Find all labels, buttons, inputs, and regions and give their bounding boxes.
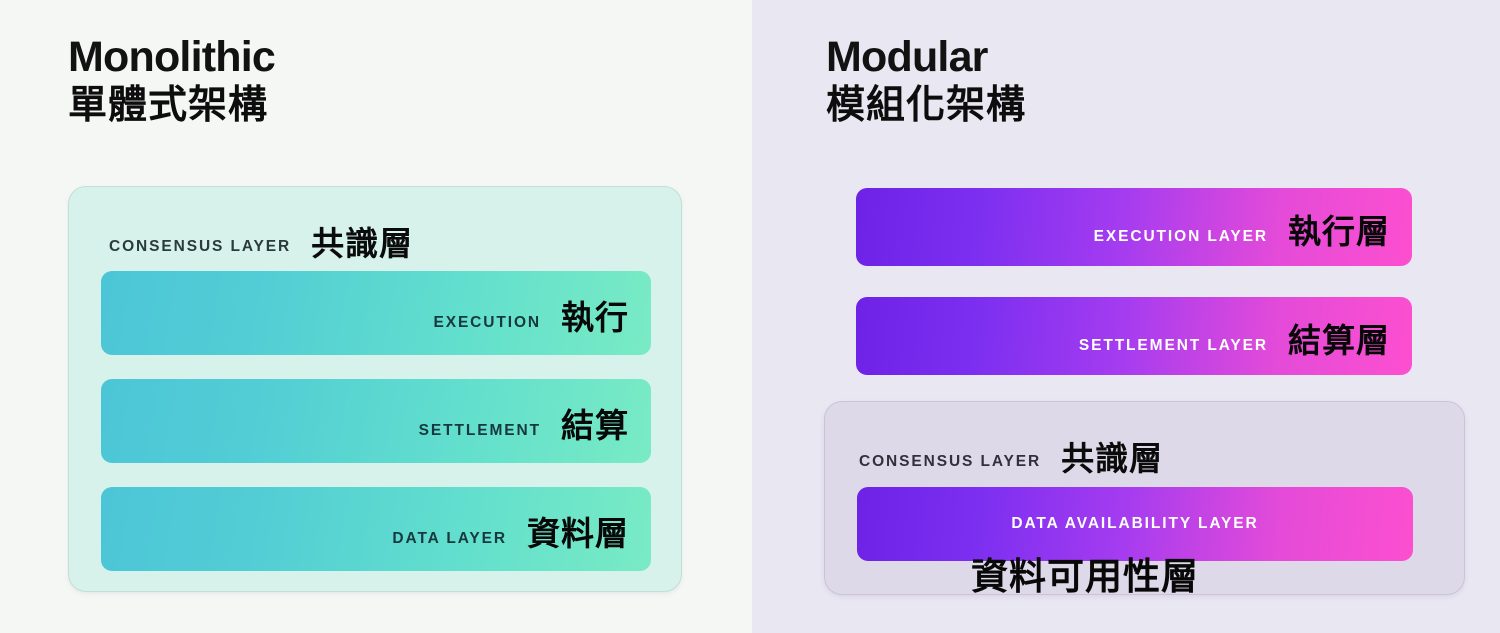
monolithic-bar-execution-labels: EXECUTION 執行 <box>433 289 629 337</box>
monolithic-bar-execution-label-en: EXECUTION <box>433 314 541 332</box>
monolithic-bar-settlement: SETTLEMENT 結算 <box>101 379 651 463</box>
modular-bar-settlement-labels: SETTLEMENT LAYER 結算層 <box>1079 312 1390 360</box>
modular-panel: Modular 模組化架構 EXECUTION LAYER 執行層 SETTLE… <box>752 0 1500 633</box>
monolithic-bar-execution: EXECUTION 執行 <box>101 271 651 355</box>
modular-bar-execution-labels: EXECUTION LAYER 執行層 <box>1094 203 1390 251</box>
monolithic-bar-data-label-zh: 資料層 <box>527 507 629 555</box>
modular-consensus-label-en: CONSENSUS LAYER <box>859 453 1041 471</box>
monolithic-bar-settlement-label-zh: 結算 <box>561 399 629 447</box>
modular-title-en: Modular <box>826 36 1026 79</box>
monolithic-bar-data-label-en: DATA LAYER <box>392 530 507 548</box>
modular-title-zh: 模組化架構 <box>826 86 1026 125</box>
monolithic-consensus-label-en: CONSENSUS LAYER <box>109 238 291 256</box>
monolithic-bar-data-labels: DATA LAYER 資料層 <box>392 505 629 553</box>
modular-consensus-caption: CONSENSUS LAYER 共識層 <box>859 428 1163 476</box>
modular-bar-settlement: SETTLEMENT LAYER 結算層 <box>856 297 1412 375</box>
comparison-diagram: Monolithic 單體式架構 CONSENSUS LAYER 共識層 EXE… <box>0 0 1500 633</box>
monolithic-consensus-container: CONSENSUS LAYER 共識層 EXECUTION 執行 SETTLEM… <box>68 186 682 592</box>
modular-bar-data-availability-label-zh: 資料可用性層 <box>971 546 1199 600</box>
modular-consensus-container: CONSENSUS LAYER 共識層 DATA AVAILABILITY LA… <box>824 401 1465 595</box>
modular-bar-execution-label-zh: 執行層 <box>1288 205 1390 253</box>
monolithic-bar-settlement-label-en: SETTLEMENT <box>419 422 541 440</box>
modular-bar-settlement-label-zh: 結算層 <box>1288 314 1390 362</box>
monolithic-consensus-label-zh: 共識層 <box>311 217 413 265</box>
monolithic-title-zh: 單體式架構 <box>68 86 275 125</box>
monolithic-consensus-caption: CONSENSUS LAYER 共識層 <box>109 213 413 261</box>
modular-consensus-label-zh: 共識層 <box>1061 432 1163 480</box>
monolithic-bar-execution-label-zh: 執行 <box>561 291 629 339</box>
monolithic-bar-data: DATA LAYER 資料層 <box>101 487 651 571</box>
modular-bar-execution-label-en: EXECUTION LAYER <box>1094 228 1268 246</box>
modular-bar-data-availability-label-en: DATA AVAILABILITY LAYER <box>1011 515 1258 533</box>
modular-bar-execution: EXECUTION LAYER 執行層 <box>856 188 1412 266</box>
monolithic-panel: Monolithic 單體式架構 CONSENSUS LAYER 共識層 EXE… <box>0 0 752 633</box>
monolithic-heading: Monolithic 單體式架構 <box>68 36 275 125</box>
monolithic-title-en: Monolithic <box>68 36 275 79</box>
modular-bar-settlement-label-en: SETTLEMENT LAYER <box>1079 337 1268 355</box>
monolithic-bar-settlement-labels: SETTLEMENT 結算 <box>419 397 629 445</box>
modular-heading: Modular 模組化架構 <box>826 36 1026 125</box>
